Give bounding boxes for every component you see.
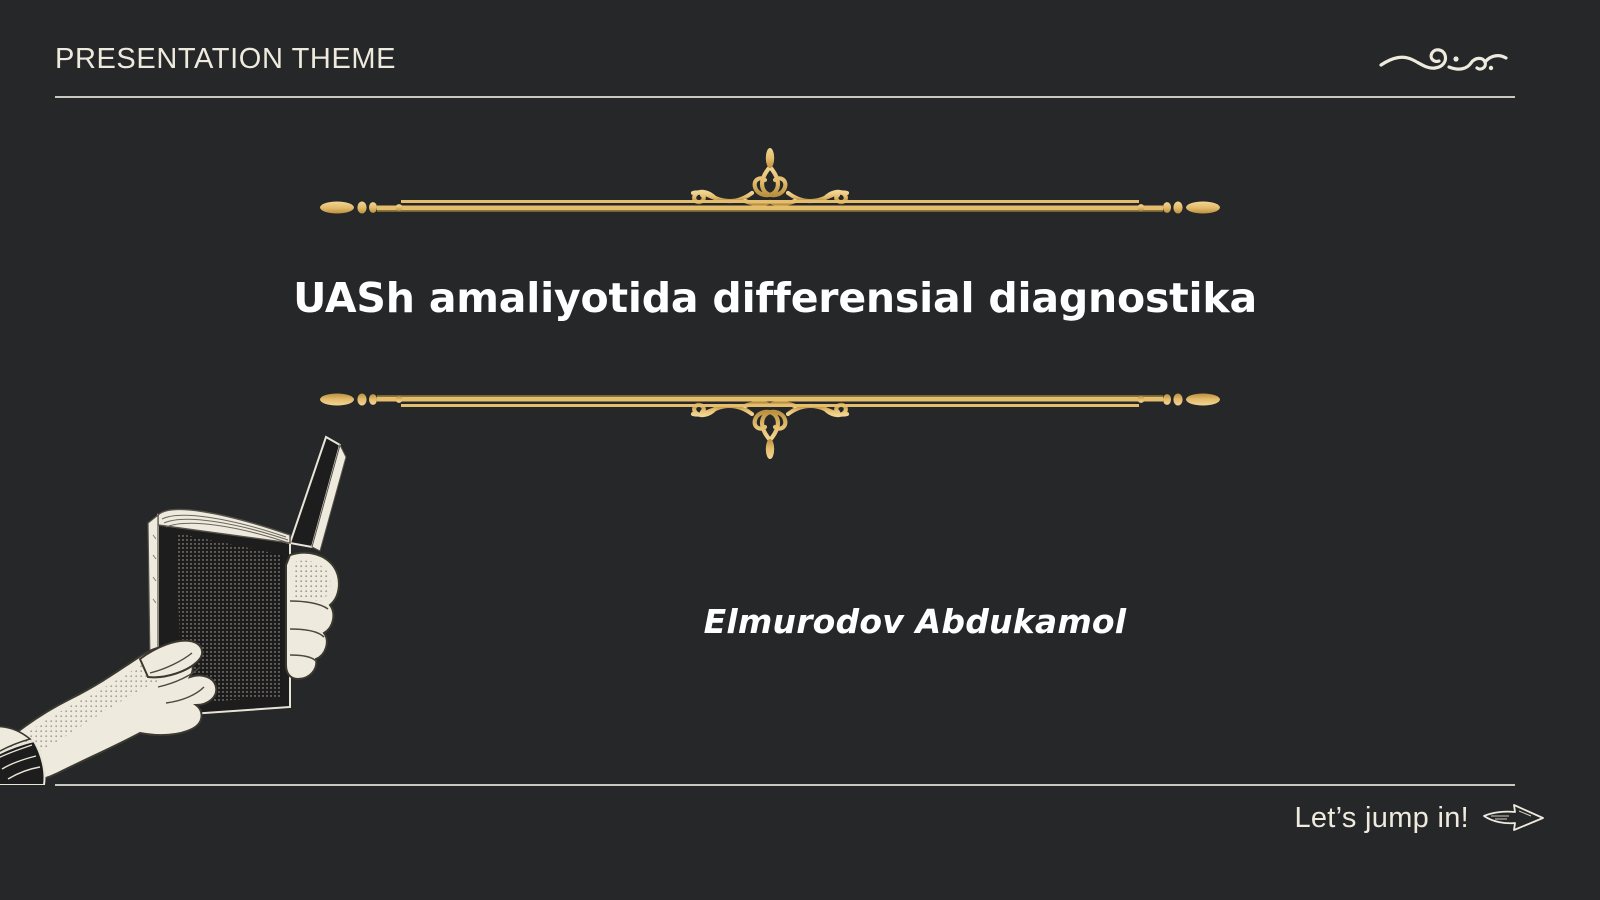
slide-subtitle-author: Elmurodov Abdukamol	[465, 602, 1365, 641]
header-divider-rule	[55, 96, 1515, 98]
footer-cta-text: Let’s jump in!	[1294, 804, 1469, 833]
right-arrow-engraving-icon	[1483, 803, 1545, 833]
hands-holding-book-engraving-icon	[0, 415, 370, 785]
slide-header: PRESENTATION THEME	[55, 45, 1515, 101]
slide-title-block: UASh amaliyotida differensial diagnostik…	[200, 275, 1350, 322]
slide-title: UASh amaliyotida differensial diagnostik…	[200, 275, 1350, 322]
slide-subtitle-block: Elmurodov Abdukamol	[465, 602, 1365, 641]
slide-footer: Let’s jump in!	[1294, 795, 1545, 841]
flourish-swirl-icon	[1379, 35, 1509, 87]
presentation-slide: PRESENTATION THEME	[0, 0, 1600, 900]
header-title: PRESENTATION THEME	[55, 45, 396, 74]
gold-ornamental-divider-icon	[315, 145, 1225, 217]
gold-ornamental-divider-flipped-icon	[315, 390, 1225, 462]
footer-divider-rule	[55, 784, 1515, 786]
